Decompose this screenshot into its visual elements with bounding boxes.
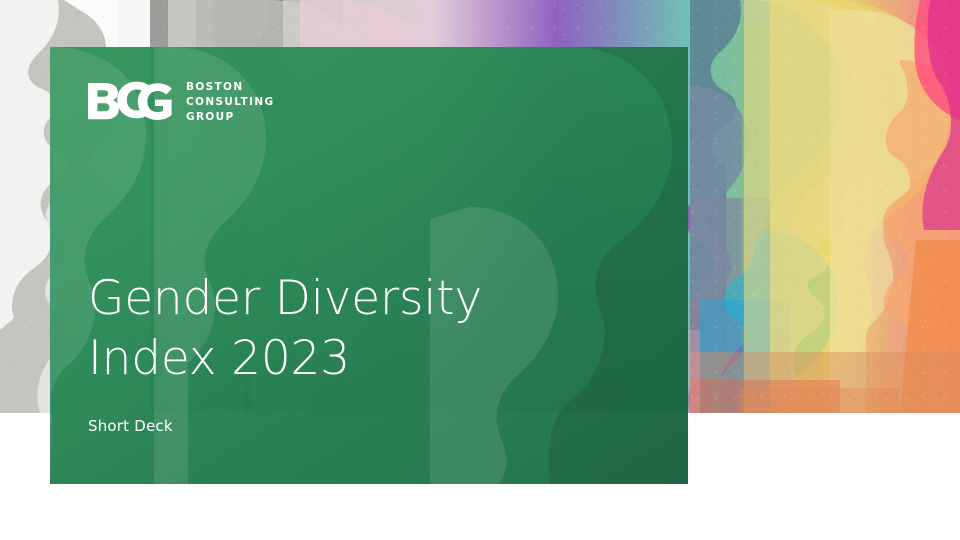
- slide-subtitle: Short Deck: [88, 417, 173, 435]
- slide-root: BOSTON CONSULTING GROUP Gender Diversity…: [0, 0, 960, 540]
- bcg-logo: BOSTON CONSULTING GROUP: [86, 80, 274, 124]
- panel-content: BOSTON CONSULTING GROUP Gender Diversity…: [50, 47, 688, 484]
- bcg-wordmark: BOSTON CONSULTING GROUP: [186, 80, 274, 124]
- wordmark-line-1: BOSTON: [186, 81, 274, 94]
- slide-title: Gender Diversity Index 2023: [88, 269, 648, 389]
- title-panel: BOSTON CONSULTING GROUP Gender Diversity…: [50, 47, 688, 484]
- wordmark-line-3: GROUP: [186, 111, 274, 124]
- title-line-1: Gender Diversity: [88, 269, 648, 329]
- title-line-2: Index 2023: [88, 329, 648, 389]
- wordmark-line-2: CONSULTING: [186, 96, 274, 109]
- bcg-monogram-icon: [86, 80, 172, 124]
